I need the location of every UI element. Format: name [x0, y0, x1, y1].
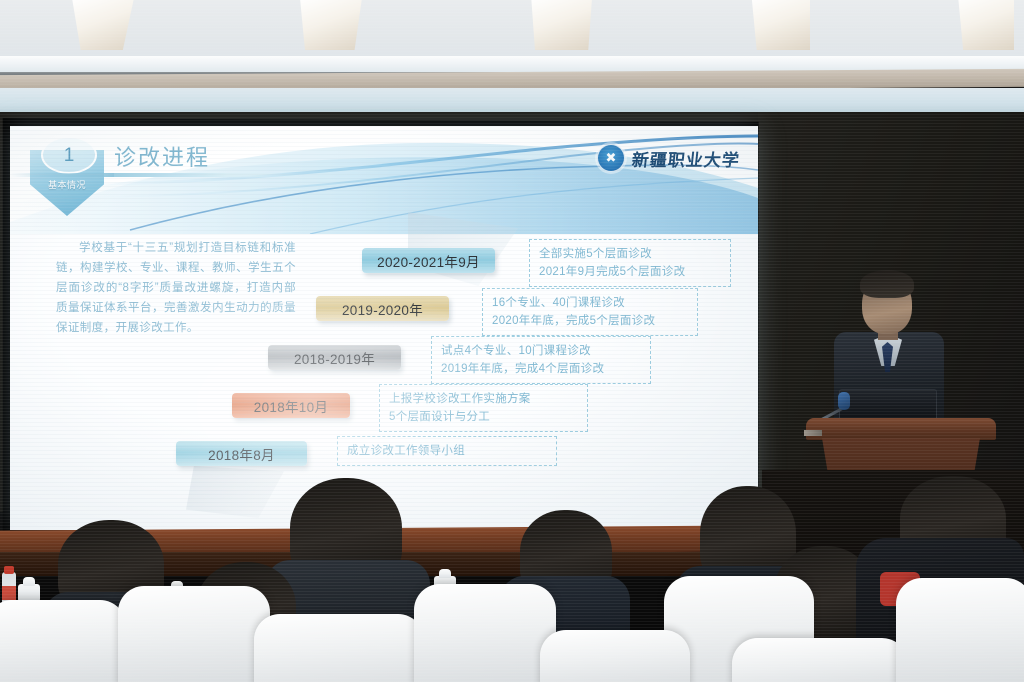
chair-cover [414, 584, 556, 682]
podium-nameplate [804, 430, 822, 436]
timeline-label-1: 2020-2021年9月 [362, 248, 495, 273]
chair-cover [896, 578, 1024, 682]
presentation-room-photo: 1 基本情况 诊改进程 ✖ 新疆职业大学 学校基于“十三五”规划打造目标链和标准… [0, 0, 1024, 682]
ceiling-light-5 [952, 0, 1014, 50]
projection-screen: 1 基本情况 诊改进程 ✖ 新疆职业大学 学校基于“十三五”规划打造目标链和标准… [10, 126, 758, 530]
cup-lid [439, 569, 451, 578]
university-name: 新疆职业大学 [631, 146, 742, 171]
university-logo: ✖ 新疆职业大学 [597, 144, 740, 172]
ceiling-light-1 [72, 0, 134, 50]
ceiling-light-4 [748, 0, 810, 50]
chair-cover [0, 600, 126, 682]
slide-title: 诊改进程 [114, 140, 210, 172]
note-line: 试点4个专业、10门课程诊改 [441, 342, 641, 360]
bottle-cap [4, 566, 14, 574]
chair-cover [540, 630, 690, 682]
timeline-note-1: 全部实施5个层面诊改 2021年9月完成5个层面诊改 [529, 239, 731, 287]
note-line: 5个层面设计与分工 [389, 408, 578, 426]
decorative-shape-2 [186, 466, 284, 518]
note-line: 2020年年底，完成5个层面诊改 [492, 312, 688, 330]
timeline-label-5: 2018年8月 [176, 441, 307, 466]
note-line: 全部实施5个层面诊改 [539, 245, 721, 263]
badge-number: 1 [41, 136, 97, 174]
timeline-note-4: 上报学校诊改工作实施方案 5个层面设计与分工 [379, 384, 588, 432]
slide-paragraph: 学校基于“十三五”规划打造目标链和标准链，构建学校、专业、课程、教师、学生五个层… [56, 238, 296, 338]
podium-top [806, 418, 996, 440]
note-line: 上报学校诊改工作实施方案 [389, 390, 578, 408]
timeline-note-2: 16个专业、40门课程诊改 2020年年底，完成5个层面诊改 [482, 288, 698, 336]
cup-lid [23, 577, 35, 586]
note-line: 2019年年底，完成4个层面诊改 [441, 360, 641, 378]
note-line: 成立诊改工作领导小组 [347, 442, 547, 460]
microphone-head-icon [838, 392, 850, 410]
speaker-hair [860, 270, 914, 298]
chair-cover [118, 586, 270, 682]
ceiling-light-2 [300, 0, 362, 50]
badge-sublabel: 基本情况 [24, 178, 110, 191]
university-emblem-icon: ✖ [597, 144, 625, 172]
bottle-label [2, 586, 16, 600]
timeline-label-4: 2018年10月 [232, 393, 350, 418]
chair-cover [732, 638, 908, 682]
note-line: 2021年9月完成5个层面诊改 [539, 263, 721, 281]
chair-cover [254, 614, 424, 682]
timeline-note-5: 成立诊改工作领导小组 [337, 436, 557, 466]
timeline-note-3: 试点4个专业、10门课程诊改 2019年年底，完成4个层面诊改 [431, 336, 651, 384]
timeline-label-2: 2019-2020年 [316, 296, 449, 321]
slide-content: 1 基本情况 诊改进程 ✖ 新疆职业大学 学校基于“十三五”规划打造目标链和标准… [10, 126, 758, 530]
ceiling-light-3 [530, 0, 592, 50]
title-rule-left [10, 173, 118, 177]
note-line: 16个专业、40门课程诊改 [492, 294, 688, 312]
timeline-label-3: 2018-2019年 [268, 345, 401, 370]
title-rule [114, 173, 302, 177]
